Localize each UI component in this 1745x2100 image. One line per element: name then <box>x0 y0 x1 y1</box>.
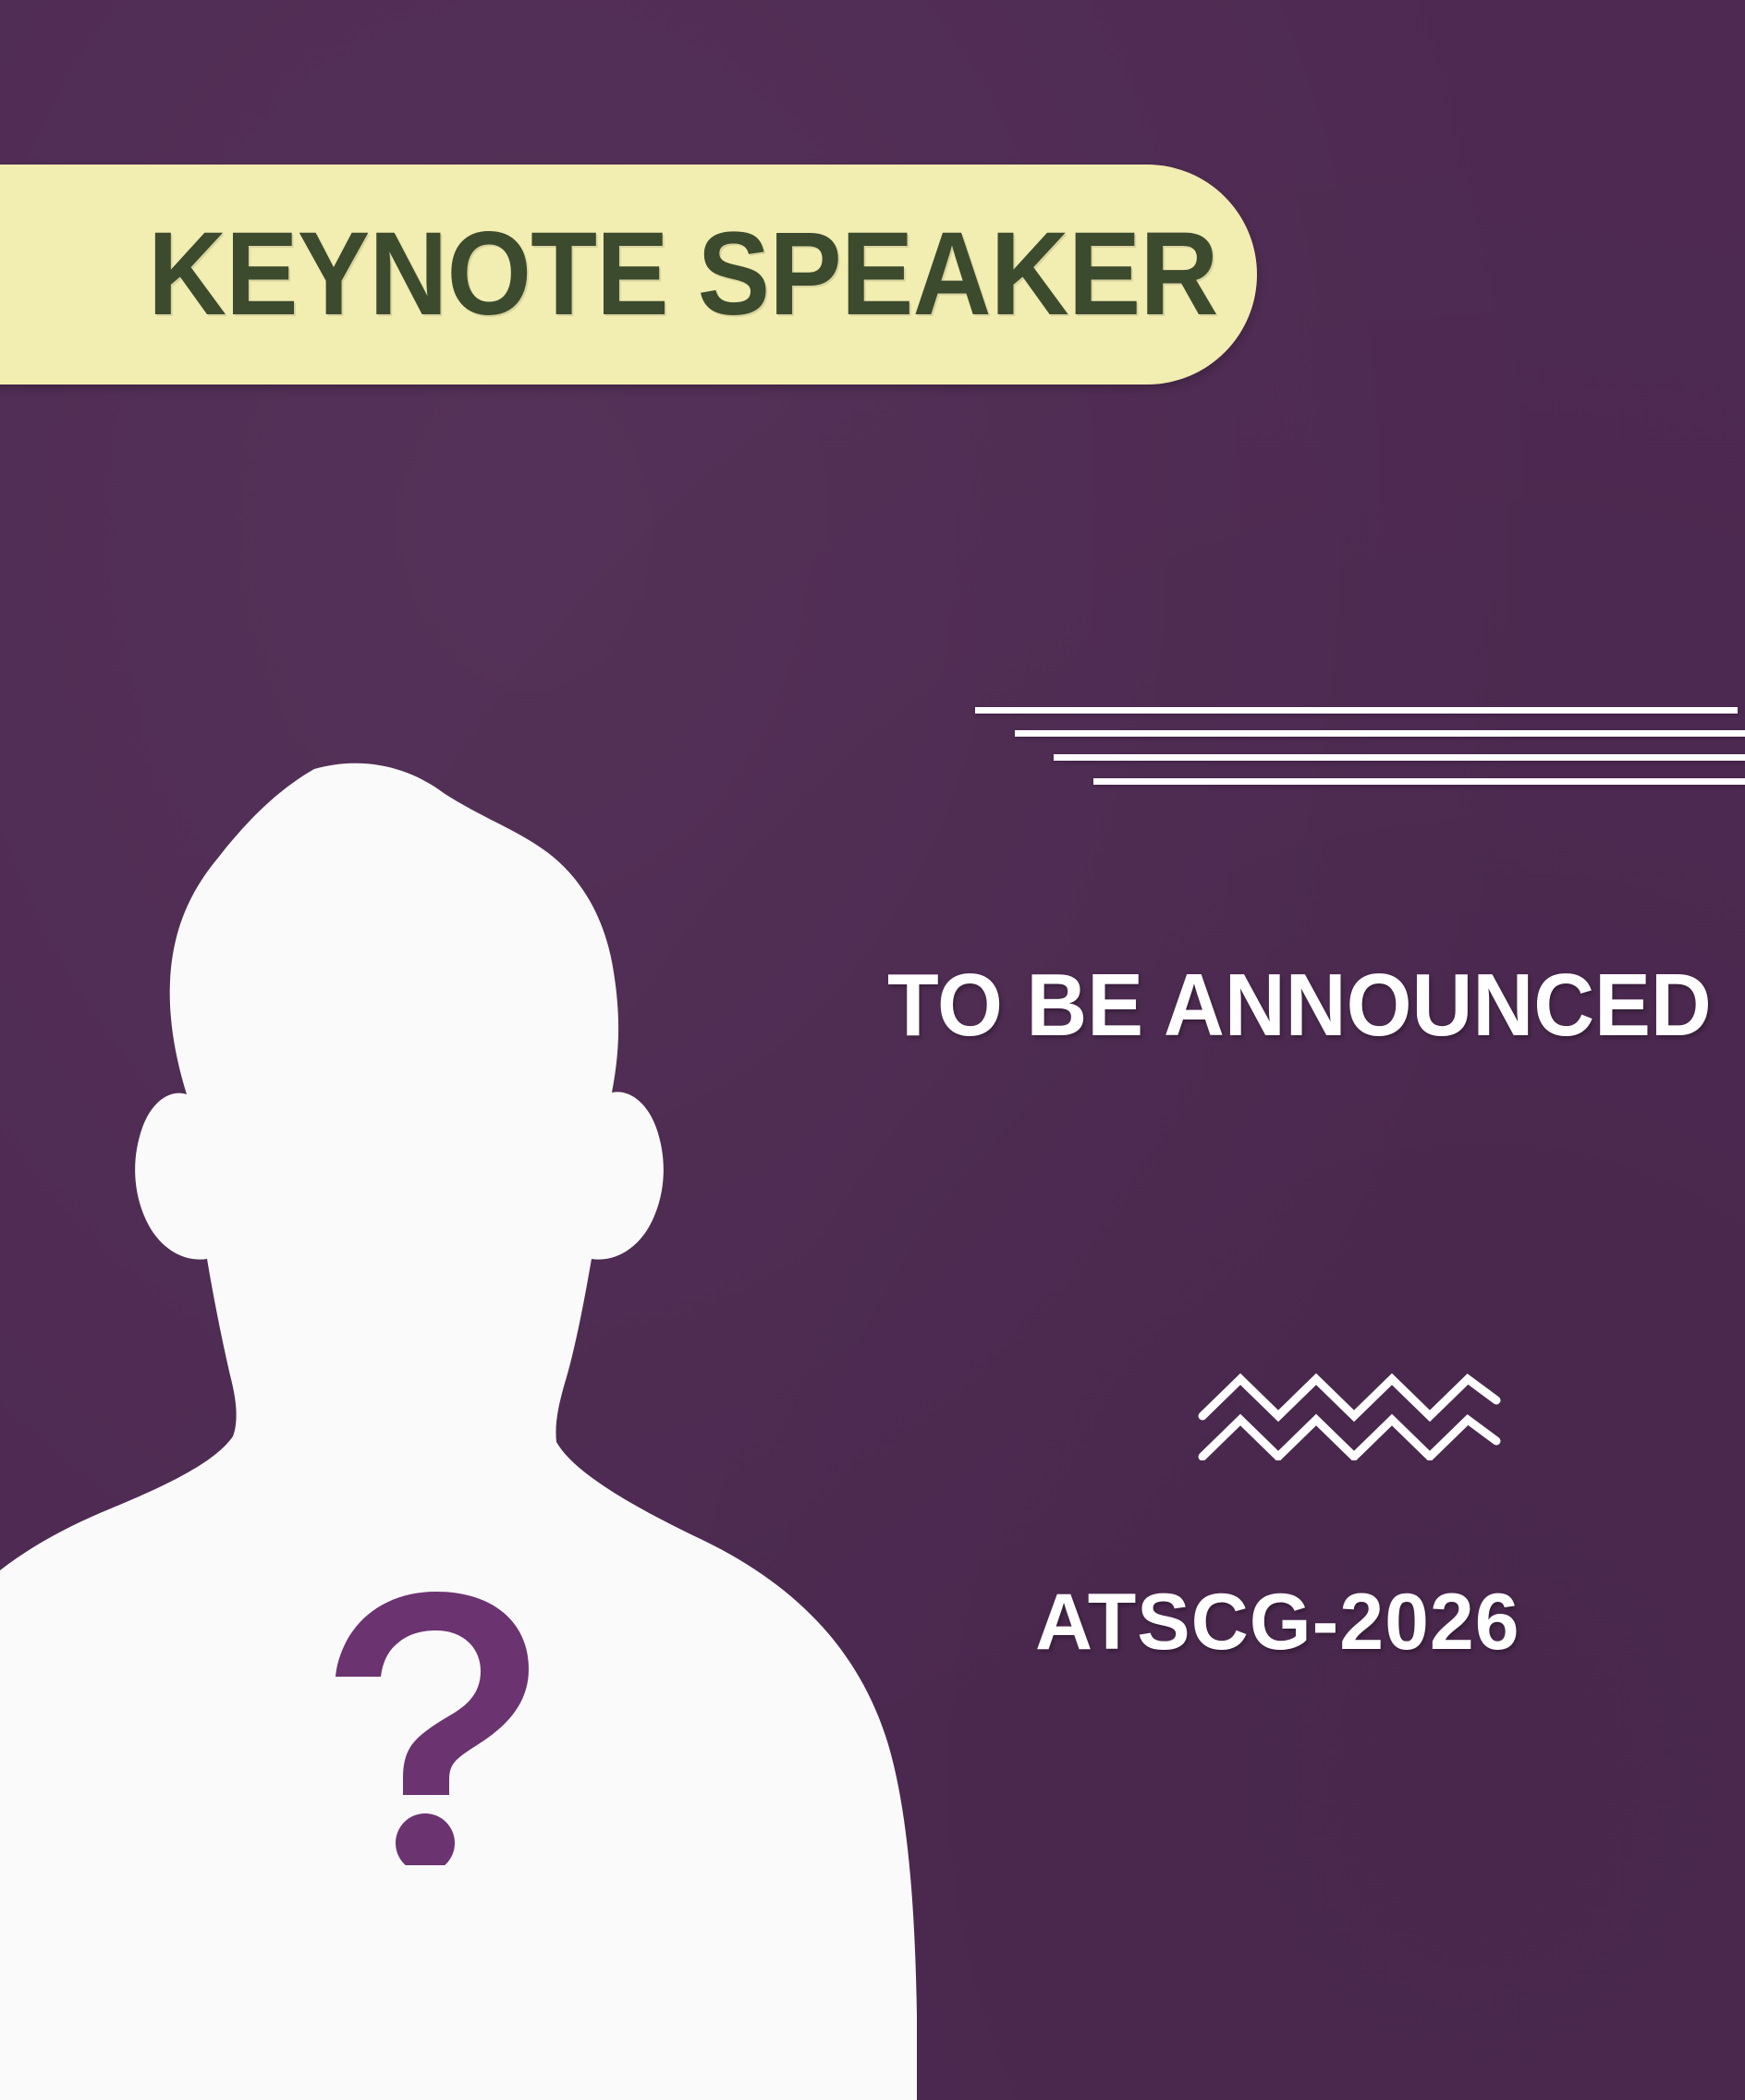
keynote-banner: KEYNOTE SPEAKER <box>0 165 1257 385</box>
banner-title: KEYNOTE SPEAKER <box>148 215 1217 334</box>
zigzag-decoration-icon <box>1197 1359 1502 1460</box>
decorative-line-3 <box>1054 754 1745 761</box>
question-mark-icon <box>333 1588 536 1865</box>
keynote-speaker-poster: KEYNOTE SPEAKER TO BE ANNOUNCED ATSCG-20… <box>0 0 1745 2100</box>
decorative-line-1 <box>975 707 1738 714</box>
decorative-line-2 <box>1015 730 1745 737</box>
event-code-text: ATSCG-2026 <box>1035 1582 1520 1662</box>
announcement-text: TO BE ANNOUNCED <box>887 961 1712 1050</box>
person-silhouette-icon <box>0 721 961 2100</box>
decorative-line-4 <box>1093 778 1745 785</box>
